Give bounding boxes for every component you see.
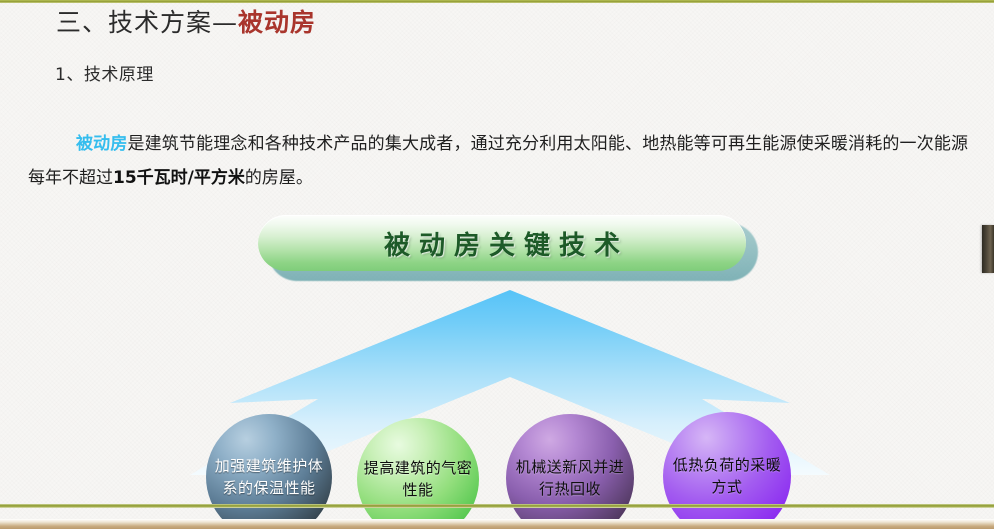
page-title-prefix: 三、技术方案—	[56, 8, 238, 37]
bubble-item-2: 提高建筑的气密性能	[357, 418, 479, 529]
bottom-divider-rule	[0, 504, 994, 508]
bubble-label-4: 低热负荷的采暖方式	[663, 454, 791, 498]
section-subtitle: 1、技术原理	[55, 60, 154, 85]
paragraph-keyword-bold: 15千瓦时/平方米	[113, 168, 245, 188]
bubble-item-4: 低热负荷的采暖方式	[663, 412, 791, 529]
bubble-item-1: 加强建筑维护体系的保温性能	[206, 414, 332, 529]
paragraph-text-part2: 的房屋。	[245, 168, 313, 188]
bubble-label-2: 提高建筑的气密性能	[357, 457, 479, 501]
banner-label: 被动房关键技术	[375, 225, 629, 262]
page-title: 三、技术方案—被动房	[56, 3, 316, 39]
paragraph-keyword-blue: 被动房	[76, 134, 127, 154]
page-title-accent: 被动房	[238, 8, 316, 37]
banner-key-technology: 被动房关键技术	[258, 215, 748, 273]
bubble-label-1: 加强建筑维护体系的保温性能	[206, 455, 332, 499]
banner-body: 被动房关键技术	[258, 215, 746, 271]
body-paragraph: 被动房是建筑节能理念和各种技术产品的集大成者，通过充分利用太阳能、地热能等可再生…	[28, 127, 968, 195]
bubble-label-3: 机械送新风并进行热回收	[506, 456, 634, 500]
right-edge-marker	[982, 225, 994, 273]
slide-canvas: 三、技术方案—被动房 1、技术原理 被动房是建筑节能理念和各种技术产品的集大成者…	[0, 0, 994, 529]
bottom-color-band	[0, 519, 994, 529]
